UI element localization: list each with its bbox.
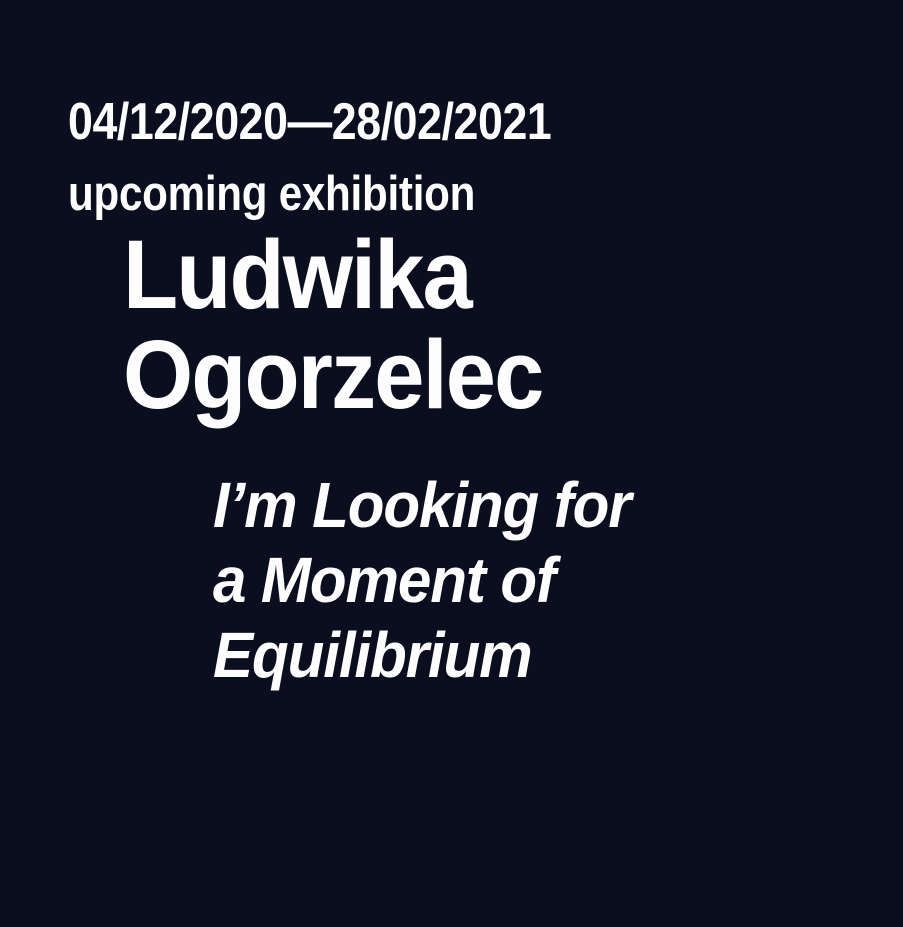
exhibition-poster: 04/12/2020—28/02/2021 upcoming exhibitio…: [0, 0, 903, 927]
exhibition-date-range: 04/12/2020—28/02/2021: [68, 86, 551, 158]
exhibition-title-line-1: I’m Looking for: [213, 468, 631, 543]
artist-family-name: Ogorzelec: [123, 325, 542, 425]
artist-given-name: Ludwika: [123, 225, 542, 325]
exhibition-title-line-3: Equilibrium: [213, 618, 631, 693]
exhibition-title-line-2: a Moment of: [213, 543, 631, 618]
poster-meta-block: 04/12/2020—28/02/2021 upcoming exhibitio…: [68, 86, 630, 230]
exhibition-title-block: I’m Looking for a Moment of Equilibrium: [213, 468, 657, 693]
artist-name-block: Ludwika Ogorzelec: [123, 225, 574, 425]
